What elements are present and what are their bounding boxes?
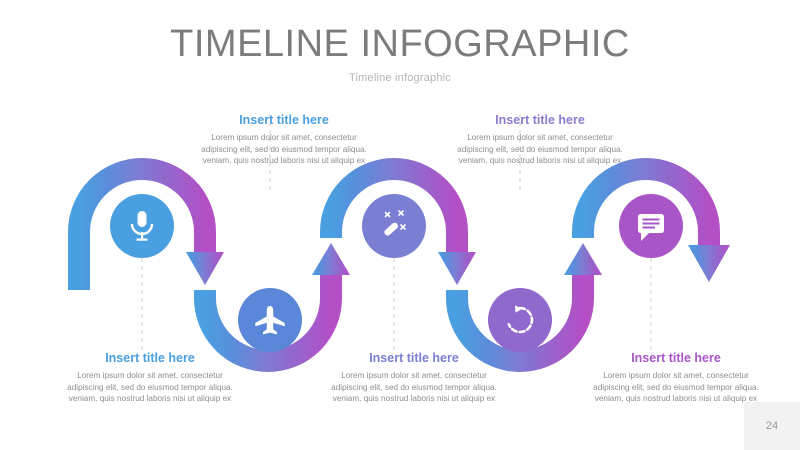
ribbon-arrowhead-down-final [688,245,730,282]
page-number: 24 [766,420,778,432]
step-text-block-3: Insert title here Lorem ipsum dolor sit … [62,350,238,405]
timeline-node-3[interactable] [362,194,426,258]
step-title-2: Insert title here [452,112,628,128]
step-title-3: Insert title here [62,350,238,366]
node-circle-4[interactable] [488,288,552,352]
step-title-4: Insert title here [326,350,502,366]
step-body-2: Lorem ipsum dolor sit amet, consectetur … [452,132,628,167]
ribbon-arrowhead-up-2 [312,243,350,275]
timeline-node-2[interactable] [238,288,302,352]
timeline-node-5[interactable] [619,194,683,258]
step-text-block-4: Insert title here Lorem ipsum dolor sit … [326,350,502,405]
step-title-1: Insert title here [196,112,372,128]
ribbon-arrowhead-down-1 [186,252,224,285]
step-text-block-2: Insert title here Lorem ipsum dolor sit … [452,112,628,167]
step-body-4: Lorem ipsum dolor sit amet, consectetur … [326,370,502,405]
step-text-block-1: Insert title here Lorem ipsum dolor sit … [196,112,372,167]
page-number-badge: 24 [744,402,800,450]
step-title-5: Insert title here [588,350,764,366]
step-body-3: Lorem ipsum dolor sit amet, consectetur … [62,370,238,405]
ribbon-arrowhead-up-4 [564,243,602,275]
timeline-node-1[interactable] [110,194,174,258]
slide-canvas: TIMELINE INFOGRAPHIC Timeline infographi… [0,0,800,450]
step-body-1: Lorem ipsum dolor sit amet, consectetur … [196,132,372,167]
timeline-node-4[interactable] [488,288,552,352]
step-text-block-5: Insert title here Lorem ipsum dolor sit … [588,350,764,405]
ribbon-arrowhead-down-3 [438,252,476,285]
step-body-5: Lorem ipsum dolor sit amet, consectetur … [588,370,764,405]
